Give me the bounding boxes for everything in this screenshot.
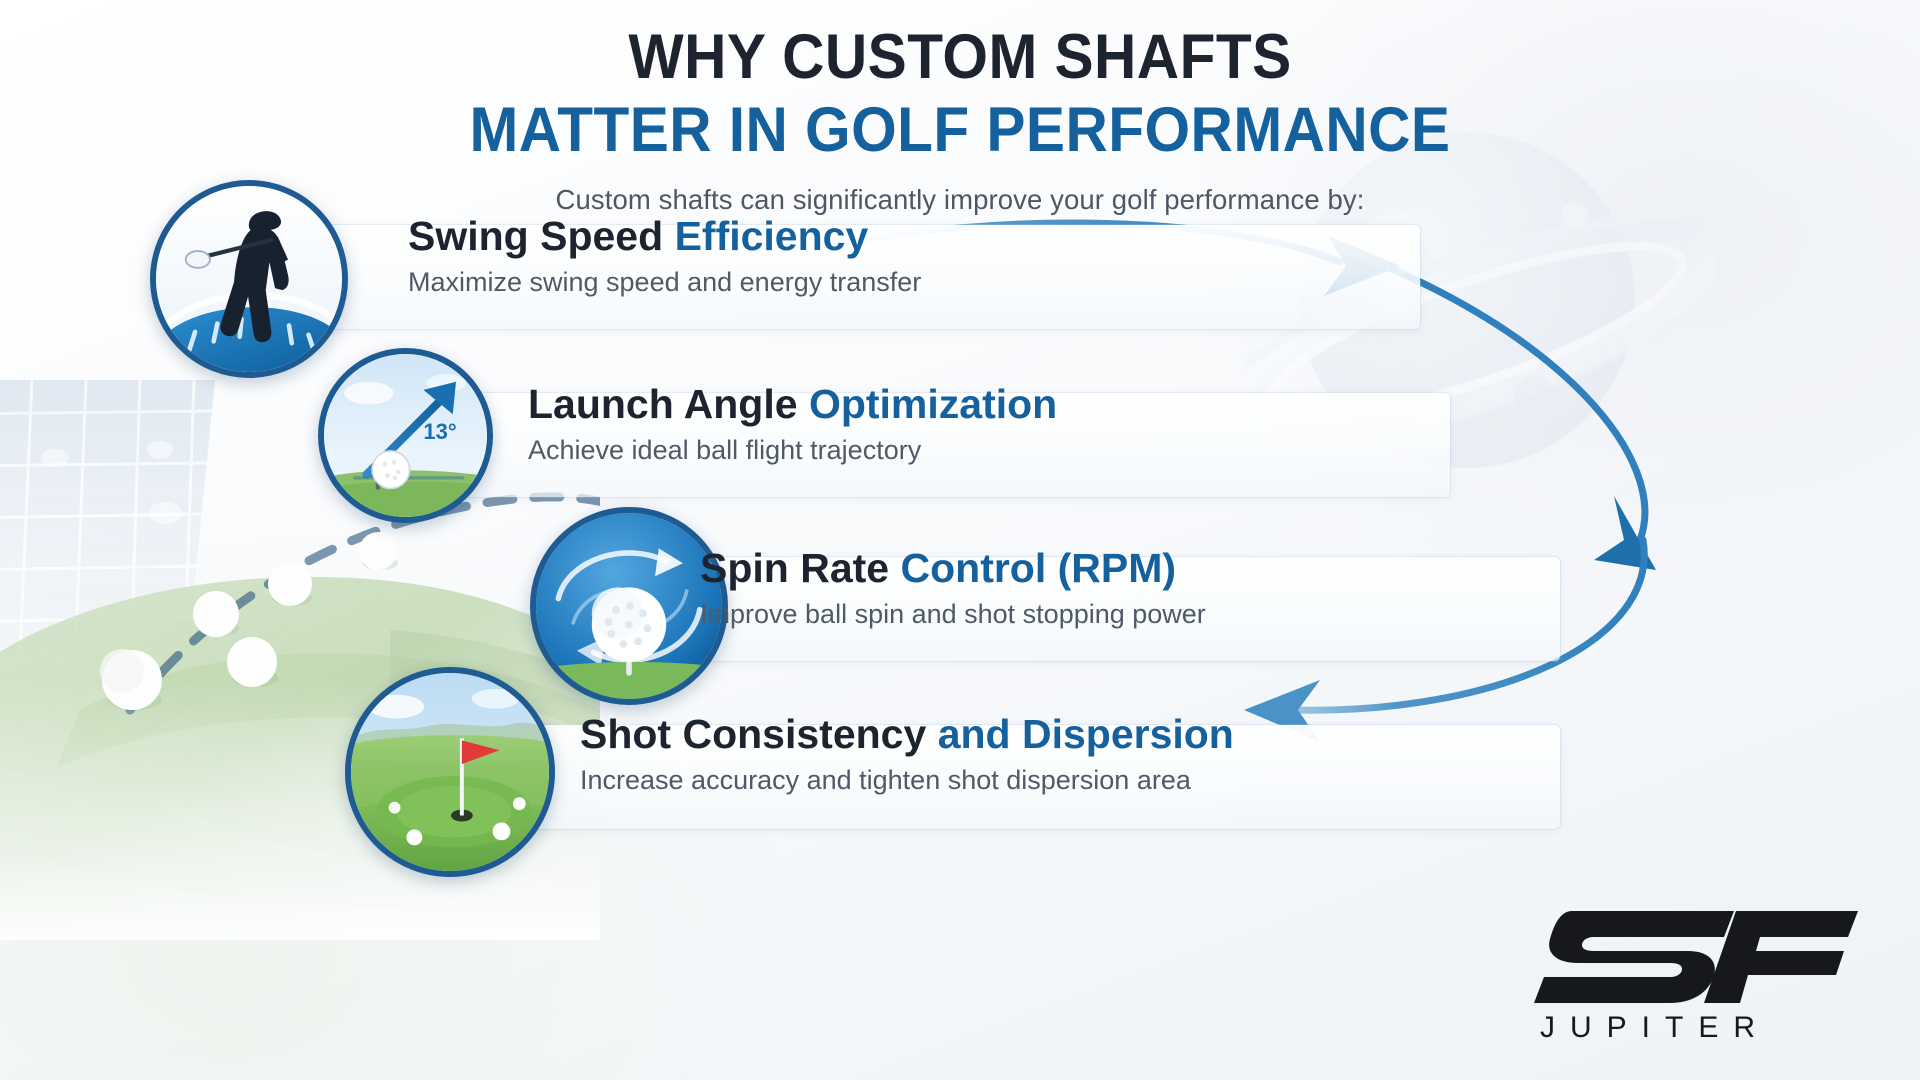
feature-description: Improve ball spin and shot stopping powe… — [700, 599, 1206, 630]
feature-heading-accent: Control (RPM) — [901, 545, 1177, 591]
golf-swing-speed-icon — [150, 180, 348, 378]
feature-heading-accent: Efficiency — [675, 213, 869, 259]
feature-text: Launch Angle Optimization Achieve ideal … — [528, 383, 1057, 466]
feature-heading-primary: Launch Angle — [528, 381, 798, 427]
feature-list: Swing Speed Efficiency Maximize swing sp… — [0, 215, 1920, 935]
logo-wordmark: JUPITER — [1540, 1011, 1770, 1044]
feature-description: Maximize swing speed and energy transfer — [408, 267, 921, 298]
feature-description: Achieve ideal ball flight trajectory — [528, 435, 1057, 466]
feature-heading: Spin Rate Control (RPM) — [700, 547, 1206, 590]
page-title-line2: MATTER IN GOLF PERFORMANCE — [67, 99, 1853, 162]
feature-text: Shot Consistency and Dispersion Increase… — [580, 713, 1234, 796]
logo-monogram-sf-icon — [1534, 911, 1858, 1003]
feature-text: Spin Rate Control (RPM) Improve ball spi… — [700, 547, 1206, 630]
shot-dispersion-green-icon — [345, 667, 555, 877]
feature-description: Increase accuracy and tighten shot dispe… — [580, 765, 1234, 796]
spin-rate-icon — [530, 507, 728, 705]
launch-angle-icon: 13° — [318, 348, 493, 523]
feature-heading: Launch Angle Optimization — [528, 383, 1057, 426]
brand-logo: JUPITER — [1528, 895, 1858, 1045]
launch-angle-value: 13° — [423, 419, 456, 444]
feature-heading-primary: Shot Consistency — [580, 711, 926, 757]
feature-heading-accent: Optimization — [809, 381, 1057, 427]
feature-heading: Shot Consistency and Dispersion — [580, 713, 1234, 756]
feature-heading-primary: Swing Speed — [408, 213, 663, 259]
page-title-line1: WHY CUSTOM SHAFTS — [67, 26, 1853, 89]
feature-heading-primary: Spin Rate — [700, 545, 889, 591]
feature-text: Swing Speed Efficiency Maximize swing sp… — [408, 215, 921, 298]
feature-heading-accent: and Dispersion — [938, 711, 1234, 757]
feature-heading: Swing Speed Efficiency — [408, 215, 921, 258]
